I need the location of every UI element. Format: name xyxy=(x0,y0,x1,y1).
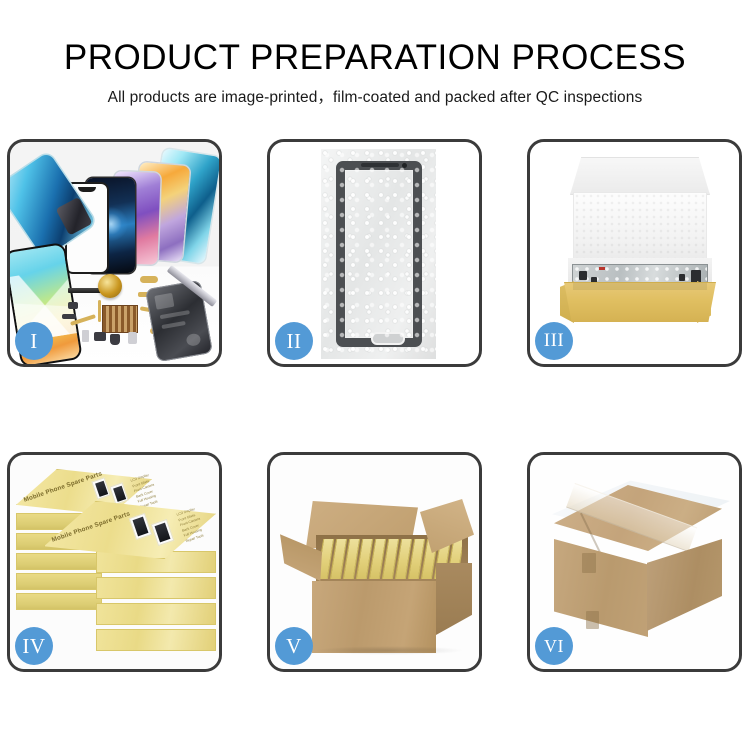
step-badge-5: V xyxy=(275,627,313,665)
small-component xyxy=(62,314,76,319)
small-component xyxy=(68,302,78,309)
step-panel-2: II xyxy=(267,139,482,367)
page-subtitle: All products are image-printed，film-coat… xyxy=(0,75,750,106)
step-panel-1: I xyxy=(7,139,222,367)
page-title: PRODUCT PREPARATION PROCESS xyxy=(0,0,750,75)
header: PRODUCT PREPARATION PROCESS All products… xyxy=(0,0,750,106)
bubble-wrap-sheet xyxy=(321,149,436,359)
step-panel-6: VI xyxy=(527,452,742,672)
process-step-grid: I II xyxy=(7,139,743,673)
box-edge xyxy=(16,553,102,570)
box-edge xyxy=(16,593,102,610)
flex-cable-part xyxy=(98,300,101,322)
chip-array-part xyxy=(102,305,138,333)
step-image-6: VI xyxy=(530,455,739,669)
carton-stamp-mark xyxy=(586,611,599,629)
step-image-3: III xyxy=(530,142,739,364)
step-image-1: I xyxy=(10,142,219,364)
step-badge-6: VI xyxy=(535,627,573,665)
connector-part xyxy=(140,276,158,283)
camera-hole xyxy=(402,163,407,168)
step-badge-4: IV xyxy=(15,627,53,665)
small-component xyxy=(82,330,89,342)
step-panel-4: Mobile Phone Spare Parts LCD DisplayFron… xyxy=(7,452,222,672)
product-preparation-infographic: PRODUCT PREPARATION PROCESS All products… xyxy=(0,0,750,750)
carton-stamp-mark xyxy=(582,553,596,573)
drop-shadow xyxy=(314,646,464,655)
box-edge xyxy=(96,577,216,599)
step-image-2: II xyxy=(270,142,479,364)
gold-coil-part xyxy=(98,274,122,298)
box-edge xyxy=(96,629,216,651)
kraft-box-tray xyxy=(564,282,716,322)
earpiece-mesh-part xyxy=(68,288,102,293)
carton-front-face xyxy=(312,581,436,653)
step-image-5: V xyxy=(270,455,479,669)
step-badge-1: I xyxy=(15,322,53,360)
step-badge-3: III xyxy=(535,322,573,360)
box-edge xyxy=(16,573,102,590)
small-component xyxy=(110,334,120,345)
phone-front-glass xyxy=(336,161,422,347)
small-component xyxy=(94,332,106,341)
step-badge-2: II xyxy=(275,322,313,360)
step-panel-3: III xyxy=(527,139,742,367)
step-panel-5: V xyxy=(267,452,482,672)
box-edge xyxy=(96,603,216,625)
box-lid-open xyxy=(570,157,710,195)
step-image-4: Mobile Phone Spare Parts LCD DisplayFron… xyxy=(10,455,219,669)
box-feature-list: LCD DisplayFront GlassFront CameraBack C… xyxy=(130,472,161,511)
small-component xyxy=(128,332,137,344)
